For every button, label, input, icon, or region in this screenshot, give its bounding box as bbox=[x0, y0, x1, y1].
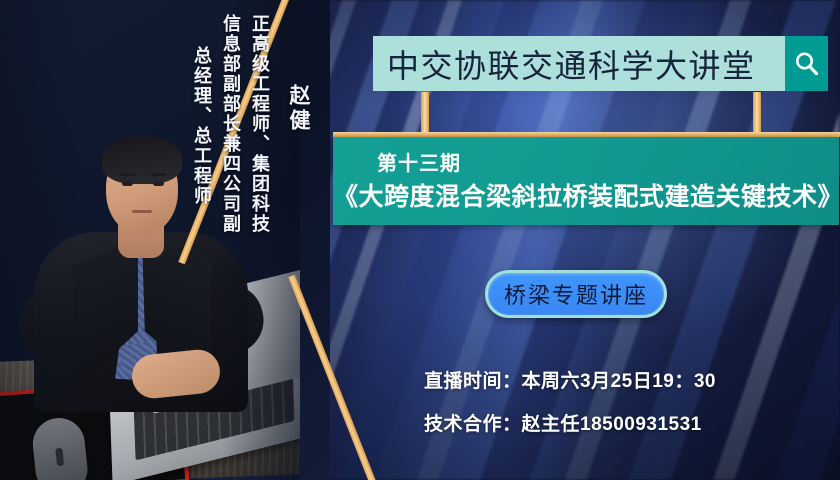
search-icon-tile[interactable] bbox=[785, 36, 828, 91]
header-banner: 中交协联交通科学大讲堂 bbox=[373, 36, 785, 91]
page-title: 中交协联交通科学大讲堂 bbox=[373, 41, 756, 87]
contact-info: 技术合作：赵主任18500931531 bbox=[424, 409, 702, 436]
category-pill-label: 桥梁专题讲座 bbox=[504, 278, 648, 310]
issue-number: 第十三期 bbox=[377, 147, 461, 176]
broadcast-time: 直播时间：本周六3月25日19：30 bbox=[424, 366, 716, 393]
gold-post-left bbox=[421, 92, 429, 136]
speaker-credential-line-2: 信息部副部长兼四公司副 bbox=[218, 14, 244, 234]
lecture-topic: 《大跨度混合梁斜拉桥装配式建造关键技术》 bbox=[333, 177, 839, 213]
poster-canvas: 总经理、总工程师 信息部副部长兼四公司副 正高级工程师、集团科技 赵健 中交协联… bbox=[0, 0, 840, 480]
gold-post-right bbox=[753, 92, 761, 136]
category-pill[interactable]: 桥梁专题讲座 bbox=[485, 270, 667, 318]
speaker-credential-line-1: 正高级工程师、集团科技 bbox=[247, 14, 273, 234]
speaker-name: 赵健 bbox=[283, 84, 313, 134]
search-icon bbox=[794, 51, 820, 77]
subtitle-slab: 第十三期 《大跨度混合梁斜拉桥装配式建造关键技术》 bbox=[333, 137, 839, 225]
speaker-credential-line-3: 总经理、总工程师 bbox=[189, 46, 215, 206]
